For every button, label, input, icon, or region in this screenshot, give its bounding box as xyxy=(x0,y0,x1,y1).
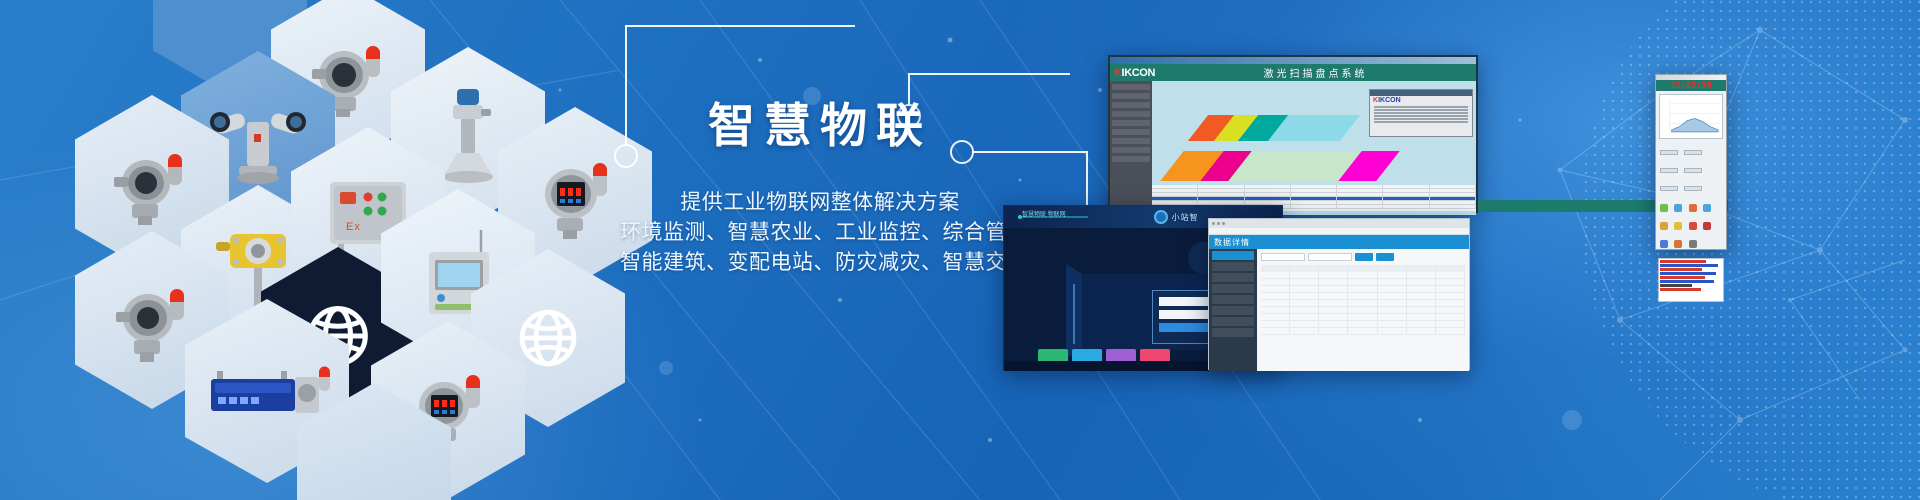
subtitle-line-1: 提供工业物联网整体解决方案 xyxy=(620,188,1020,218)
gas-detector-icon xyxy=(104,139,200,229)
sidebar-item[interactable] xyxy=(1212,328,1254,337)
sidebar-item[interactable] xyxy=(1212,262,1254,271)
subtitle-block: 提供工业物联网整体解决方案 环境监测、智慧农业、工业监控、综合管廊、 智能建筑、… xyxy=(620,188,1020,278)
scan-window-titlebar xyxy=(1110,57,1476,64)
table-row xyxy=(1261,314,1465,321)
tool-icon[interactable] xyxy=(1674,204,1682,212)
tool-icon[interactable] xyxy=(1689,204,1697,212)
svg-text:Ex: Ex xyxy=(346,221,361,233)
reset-button[interactable] xyxy=(1376,253,1394,261)
chart-button[interactable] xyxy=(1684,186,1702,191)
environment-monitor-screen[interactable]: 15:22:10 xyxy=(1655,74,1727,250)
tool-icon[interactable] xyxy=(1660,240,1668,248)
laser-scan-system-screen[interactable]: KIKCON 激光扫描盘点系统 KIKCON xyxy=(1108,55,1478,213)
sidebar-item[interactable] xyxy=(1212,317,1254,326)
records-table[interactable] xyxy=(1261,265,1465,335)
logo-mark: K xyxy=(1114,67,1122,79)
table-row xyxy=(1261,279,1465,286)
sidebar-item[interactable] xyxy=(1212,295,1254,304)
chart-button[interactable] xyxy=(1660,150,1678,155)
chart-button[interactable] xyxy=(1660,186,1678,191)
tool-icon[interactable] xyxy=(1660,222,1668,230)
sidebar-item[interactable] xyxy=(1212,306,1254,315)
hexagon-device-grid: Ex xyxy=(0,0,620,500)
sidebar-item[interactable] xyxy=(1212,273,1254,282)
tool-icon[interactable] xyxy=(1703,222,1711,230)
table-row xyxy=(1261,293,1465,300)
ikcon-logo: KIKCON xyxy=(1110,67,1155,79)
dashboard-logo-badge xyxy=(1154,210,1168,224)
chart-button[interactable] xyxy=(1684,168,1702,173)
alarm-log-panel[interactable] xyxy=(1658,258,1724,302)
filter-input[interactable] xyxy=(1261,253,1305,261)
banner-copy: 智慧物联 提供工业物联网整体解决方案 环境监测、智慧农业、工业监控、综合管廊、 … xyxy=(620,100,1020,278)
dialog-logo: KIKCON xyxy=(1370,96,1472,105)
app-topbar: 数据详情 xyxy=(1209,235,1469,249)
table-header xyxy=(1261,265,1465,272)
data-table-browser-window[interactable]: 数据详情 xyxy=(1208,218,1470,370)
tool-icon[interactable] xyxy=(1689,240,1697,248)
tool-icon[interactable] xyxy=(1674,240,1682,248)
dashboard-title: 小站智 xyxy=(1172,212,1199,223)
browser-chrome[interactable] xyxy=(1209,219,1469,228)
app-sidebar[interactable] xyxy=(1209,249,1257,371)
scan-header: KIKCON 激光扫描盘点系统 xyxy=(1110,64,1476,81)
table-row xyxy=(1261,328,1465,335)
sidebar-item[interactable] xyxy=(1212,284,1254,293)
page-title: 智慧物联 xyxy=(620,100,1020,152)
dashboard-tag: 智慧物联 物联网 xyxy=(1022,209,1066,218)
tool-icon-row[interactable] xyxy=(1656,198,1726,256)
sidebar-item[interactable] xyxy=(1212,251,1254,260)
about-dialog[interactable]: KIKCON xyxy=(1369,89,1473,137)
clock-band: 15:22:10 xyxy=(1656,80,1726,91)
browser-url-bar[interactable] xyxy=(1209,228,1469,235)
environment-chart xyxy=(1659,94,1723,139)
table-row xyxy=(1261,286,1465,293)
table-row xyxy=(1261,272,1465,279)
app-main xyxy=(1209,249,1469,371)
table-row xyxy=(1261,321,1465,328)
tool-icon[interactable] xyxy=(1703,204,1711,212)
filter-bar[interactable] xyxy=(1261,253,1465,261)
tool-icon[interactable] xyxy=(1660,204,1668,212)
scan-system-title: 激光扫描盘点系统 xyxy=(1155,65,1476,80)
chart-control-buttons[interactable] xyxy=(1656,142,1726,198)
chart-button[interactable] xyxy=(1684,150,1702,155)
date-input[interactable] xyxy=(1308,253,1352,261)
subtitle-line-2: 环境监测、智慧农业、工业监控、综合管廊、 xyxy=(620,218,1020,248)
clock-value: 15:22:10 xyxy=(1671,81,1712,91)
search-button[interactable] xyxy=(1355,253,1373,261)
window-dot xyxy=(1222,222,1225,225)
table-row xyxy=(1261,307,1465,314)
window-dot xyxy=(1212,222,1215,225)
window-dot xyxy=(1217,222,1220,225)
table-row xyxy=(1261,300,1465,307)
app-brand: 数据详情 xyxy=(1209,237,1250,248)
app-content xyxy=(1257,249,1469,371)
scan-sidebar[interactable] xyxy=(1110,81,1152,215)
tool-icon[interactable] xyxy=(1674,222,1682,230)
digital-detector-icon xyxy=(527,148,623,244)
chart-button[interactable] xyxy=(1660,168,1678,173)
tool-icon[interactable] xyxy=(1689,222,1697,230)
logo-text: IKCON xyxy=(1122,67,1155,79)
iot-solution-banner: Ex xyxy=(0,0,1920,500)
subtitle-line-3: 智能建筑、变配电站、防灾减灾、智慧交通 xyxy=(620,248,1020,278)
